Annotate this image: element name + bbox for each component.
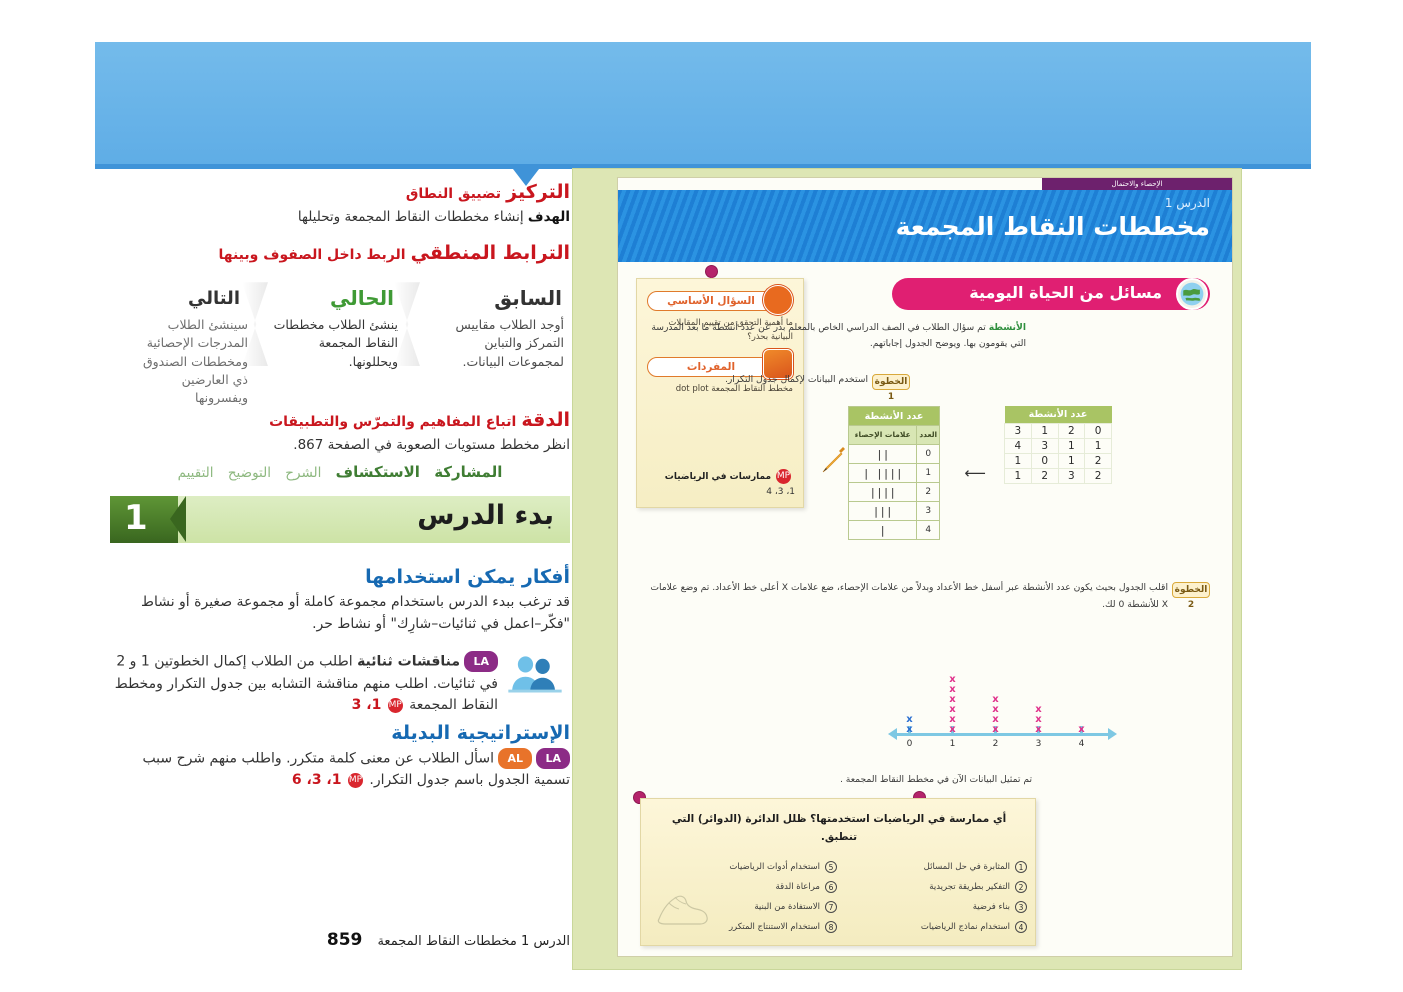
alternate-title: الإستراتيجية البديلة [110, 722, 570, 744]
data-cell-1-0: 4 [1005, 438, 1032, 453]
practice-label-3: بناء فرضية [973, 902, 1010, 912]
tally-count-2: 2 [917, 483, 940, 502]
math-practices-numbers: 1، 3، 4 [766, 487, 795, 497]
tally-marks-1: |||| | [849, 464, 917, 483]
dot-marker-1-2: x [947, 715, 959, 724]
rigor-value: اتباع المفاهيم والتمرّس والتطبيقات [269, 414, 516, 430]
practice-level-2: الشرح [285, 465, 321, 481]
focus-row: التركيز تضييق النطاق [110, 180, 570, 206]
coherence-heading-previous: السابق [494, 286, 562, 310]
math-practice-item-4[interactable]: 4استخدام نماذج الرياضيات [843, 917, 1027, 937]
teacher-notes-column: التركيز تضييق النطاق الهدف إنشاء مخططات … [110, 180, 570, 970]
math-practice-column-right: 1المثابرة في حل المسائل2التفكير بطريقة ت… [843, 857, 1027, 937]
table-row: 2 1 0 1 [1005, 453, 1112, 468]
essential-question-note: السؤال الأساسي ما أهمية التحقق من تقييم … [636, 278, 804, 508]
tally-count-4: 4 [917, 521, 940, 540]
alternate-practice-ref: 1، 3، 6 [292, 772, 342, 788]
badge-al-alternate: AL [498, 748, 532, 769]
coherence-text-next: سينشئ الطلاب المدرجات الإحصائية ومخططات … [128, 316, 248, 407]
axis-tick-label-3: 3 [1032, 739, 1046, 749]
alternate-body-wrap: LA AL اسأل الطلاب عن معنى كلمة متكرر. وا… [110, 748, 570, 792]
dot-marker-1-5: x [947, 685, 959, 694]
dot-marker-2-2: x [990, 715, 1002, 724]
real-life-banner-text: مسائل من الحياة اليومية [969, 283, 1162, 302]
practice-label-7: الاستفادة من البنية [754, 902, 820, 912]
practice-level-4: التقييم [178, 465, 214, 481]
ideas-body: قد ترغب ببدء الدرس باستخدام مجموعة كاملة… [110, 592, 570, 635]
axis-tick-label-2: 2 [989, 739, 1003, 749]
coherence-label: الترابط المنطقي [411, 242, 570, 264]
math-practices-label: ممارسات في الرياضيات [665, 472, 771, 482]
practice-circle-2[interactable]: 2 [1015, 881, 1027, 893]
practice-level-3: التوضيح [228, 465, 271, 481]
shoe-sketch-icon [651, 879, 713, 941]
lesson-start-number: 1 [124, 498, 148, 538]
coherence-heading-next: التالي [188, 288, 240, 309]
practice-label-6: مراعاة الدقة [776, 882, 820, 892]
pencil-icon [818, 446, 848, 476]
practice-label-5: استخدام أدوات الرياضيات [729, 862, 820, 872]
practice-circle-1[interactable]: 1 [1015, 861, 1027, 873]
rigor-section: الدقة اتباع المفاهيم والتمرّس والتطبيقات… [110, 408, 570, 453]
strand-label: الإحصاء والاحتمال [1042, 178, 1232, 190]
activity-paragraph: الأنشطة تم سؤال الطلاب في الصف الدراسي ا… [636, 320, 1026, 352]
dot-marker-3-2: x [1033, 715, 1045, 724]
math-practice-question: أي ممارسة في الرياضيات استخدمتها؟ ظلل ال… [655, 811, 1023, 847]
dot-marker-0-1: x [904, 725, 916, 734]
raw-data-table: عدد الأنشطة 0 2 1 3 1 1 3 4 2 1 0 1 [1004, 406, 1112, 484]
practice-level-0: المشاركة [434, 463, 502, 481]
dot-marker-1-1: x [947, 725, 959, 734]
rigor-note: انظر مخطط مستويات الصعوبة في الصفحة 867. [110, 437, 570, 453]
essential-question-pill: السؤال الأساسي [647, 291, 775, 311]
practice-level-1: الاستكشاف [336, 463, 420, 481]
data-cell-0-0: 3 [1005, 423, 1032, 438]
tally-subheader-count: العدد [917, 426, 940, 445]
step2-pill: الخطوة 2 [1172, 582, 1210, 598]
question-mark-icon [763, 285, 793, 315]
dot-marker-3-1: x [1033, 725, 1045, 734]
rigor-label: الدقة [521, 409, 570, 431]
tally-frequency-table: عدد الأنشطة العدد علامات الإحصاء 0 || 1 … [848, 406, 940, 540]
objective-value: إنشاء مخططات النقاط المجمعة وتحليلها [298, 209, 524, 225]
practice-circle-3[interactable]: 3 [1015, 901, 1027, 913]
tally-marks-3: ||| [849, 502, 917, 521]
activity-text: تم سؤال الطلاب في الصف الدراسي الخاص بال… [651, 322, 1026, 349]
top-banner [95, 42, 1311, 169]
axis-arrow-right-icon [1108, 728, 1117, 740]
lesson-start-arrow-icon [170, 496, 186, 542]
coherence-text-previous: أوجد الطلاب مقاييس التمركز والتباين لمجم… [429, 316, 564, 370]
math-practices-label-row: MP ممارسات في الرياضيات [648, 469, 793, 484]
tally-count-0: 0 [917, 445, 940, 464]
step2-text: اقلب الجدول بحيث يكون عدد الأنشطة عبر أس… [648, 580, 1168, 613]
data-table-header: عدد الأنشطة [1005, 406, 1112, 423]
lesson-number: الدرس 1 [1165, 196, 1210, 210]
table-row: 1 |||| | [849, 464, 940, 483]
table-row: 2 3 2 1 [1005, 468, 1112, 483]
table-row: 3 ||| [849, 502, 940, 521]
tally-subheader-marks: علامات الإحصاء [849, 426, 917, 445]
alternate-strategy-section: الإستراتيجية البديلة LA AL اسأل الطلاب ع… [110, 708, 570, 792]
practice-circle-4[interactable]: 4 [1015, 921, 1027, 933]
data-cell-1-1: 3 [1031, 438, 1058, 453]
student-page: الإحصاء والاحتمال الدرس 1 مخططات النقاط … [617, 177, 1233, 957]
step1-pill: الخطوة 1 [872, 374, 910, 390]
table-row: 4 | [849, 521, 940, 540]
dot-marker-1-3: x [947, 705, 959, 714]
lesson-start-bar: 1 بدء الدرس [110, 496, 570, 543]
page-number: 859 [327, 930, 363, 950]
math-practice-item-5[interactable]: 5استخدام أدوات الرياضيات [653, 857, 837, 877]
math-practice-question-text: أي ممارسة في الرياضيات استخدمتها؟ ظلل ال… [672, 813, 1006, 843]
objective-row: الهدف إنشاء مخططات النقاط المجمعة وتحليل… [110, 209, 570, 225]
dot-marker-2-4: x [990, 695, 1002, 704]
axis-tick-label-0: 0 [903, 739, 917, 749]
textbook-page: التركيز تضييق النطاق الهدف إنشاء مخططات … [0, 0, 1403, 992]
real-life-banner: مسائل من الحياة اليومية [892, 278, 1210, 310]
globe-icon [1176, 278, 1208, 310]
practice-circle-8[interactable]: 8 [825, 921, 837, 933]
coherence-heading-current: الحالي [330, 286, 394, 310]
practice-dot-icon-2: MP [348, 773, 363, 788]
ideas-section: أفكار يمكن استخدامها قد ترغب ببدء الدرس … [110, 552, 570, 717]
footer-text: الدرس 1 مخططات النقاط المجمعة [377, 934, 570, 949]
tip-title: مناقشات ثنائية [357, 654, 460, 670]
data-cell-3-3: 2 [1085, 468, 1112, 483]
lesson-header-banner: الدرس 1 مخططات النقاط المجمعة [618, 190, 1232, 262]
badge-la-paired: LA [464, 651, 498, 672]
math-practice-item-1[interactable]: 1المثابرة في حل المسائل [843, 857, 1027, 877]
student-page-panel: الإحصاء والاحتمال الدرس 1 مخططات النقاط … [572, 168, 1242, 970]
data-cell-2-1: 0 [1031, 453, 1058, 468]
table-row: 0 2 1 3 [1005, 423, 1112, 438]
dot-plot-chart: 0xx1xxxxxx2xxxx3xxx4x [886, 663, 1126, 755]
focus-label: التركيز [506, 181, 570, 203]
practice-levels-row: المشاركة الاستكشاف الشرح التوضيح التقييم [110, 463, 570, 481]
coherence-row: الترابط المنطقي الربط داخل الصفوف وبينها [110, 241, 570, 267]
objective-label: الهدف [528, 209, 570, 225]
step1-text: استخدم البيانات لإكمال جدول التكرار. [725, 374, 868, 385]
tally-marks-4: | [849, 521, 917, 540]
rigor-row: الدقة اتباع المفاهيم والتمرّس والتطبيقات [110, 408, 570, 434]
tally-table-header: عدد الأنشطة [849, 407, 940, 426]
tally-count-3: 3 [917, 502, 940, 521]
data-cell-2-2: 1 [1058, 453, 1085, 468]
practice-dot-icon-3: MP [776, 469, 791, 484]
dot-marker-2-3: x [990, 705, 1002, 714]
two-people-icon [506, 653, 564, 693]
focus-value: تضييق النطاق [406, 186, 501, 202]
tally-marks-2: |||| [849, 483, 917, 502]
data-cell-3-2: 3 [1058, 468, 1085, 483]
data-cell-2-3: 2 [1085, 453, 1112, 468]
math-practice-checklist-note: أي ممارسة في الرياضيات استخدمتها؟ ظلل ال… [640, 798, 1036, 946]
axis-tick-label-4: 4 [1075, 739, 1089, 749]
dot-plot-caption: تم تمثيل البيانات الآن في مخطط النقاط ال… [736, 774, 1136, 785]
math-practice-item-3[interactable]: 3بناء فرضية [843, 897, 1027, 917]
arrow-right-icon: ⟵ [964, 464, 986, 482]
coherence-text-current: ينشئ الطلاب مخططات النقاط المجمعة ويحللو… [273, 316, 398, 370]
tally-count-1: 1 [917, 464, 940, 483]
data-cell-0-1: 1 [1031, 423, 1058, 438]
axis-arrow-left-icon [888, 728, 897, 740]
vocabulary-text: مخطط النقاط المجمعة dot plot [653, 383, 793, 397]
data-cell-2-0: 1 [1005, 453, 1032, 468]
tally-marks-0: || [849, 445, 917, 464]
ideas-title: أفكار يمكن استخدامها [110, 566, 570, 588]
data-cell-1-2: 1 [1058, 438, 1085, 453]
badge-la-alternate: LA [536, 748, 570, 769]
table-row: 2 |||| [849, 483, 940, 502]
dot-marker-4-1: x [1076, 725, 1088, 734]
data-cell-3-1: 2 [1031, 468, 1058, 483]
practice-circle-5[interactable]: 5 [825, 861, 837, 873]
table-row: 0 || [849, 445, 940, 464]
data-cell-1-3: 1 [1085, 438, 1112, 453]
practice-label-1: المثابرة في حل المسائل [924, 862, 1010, 872]
practice-circle-6[interactable]: 6 [825, 881, 837, 893]
dot-marker-3-3: x [1033, 705, 1045, 714]
coherence-chevrons: السابق الحالي التالي أوجد الطلاب مقاييس … [110, 282, 570, 400]
dot-marker-1-6: x [947, 675, 959, 684]
data-cell-0-2: 2 [1058, 423, 1085, 438]
practice-label-8: استخدام الاستنتاج المتكرر [729, 922, 820, 932]
practice-circle-7[interactable]: 7 [825, 901, 837, 913]
axis-tick-label-1: 1 [946, 739, 960, 749]
activity-label: الأنشطة [989, 322, 1026, 333]
data-cell-3-0: 1 [1005, 468, 1032, 483]
practice-label-2: التفكير بطريقة تجريدية [929, 882, 1010, 892]
table-row: 1 1 3 4 [1005, 438, 1112, 453]
math-practice-item-2[interactable]: 2التفكير بطريقة تجريدية [843, 877, 1027, 897]
dot-marker-1-4: x [947, 695, 959, 704]
dot-marker-0-2: x [904, 715, 916, 724]
lesson-title: مخططات النقاط المجمعة [896, 212, 1210, 241]
data-cell-0-3: 0 [1085, 423, 1112, 438]
coherence-value: الربط داخل الصفوف وبينها [218, 247, 405, 263]
dot-marker-2-1: x [990, 725, 1002, 734]
practice-label-4: استخدام نماذج الرياضيات [921, 922, 1010, 932]
lesson-start-title: بدء الدرس [417, 500, 554, 531]
page-footer: الدرس 1 مخططات النقاط المجمعة 859 [110, 930, 570, 950]
